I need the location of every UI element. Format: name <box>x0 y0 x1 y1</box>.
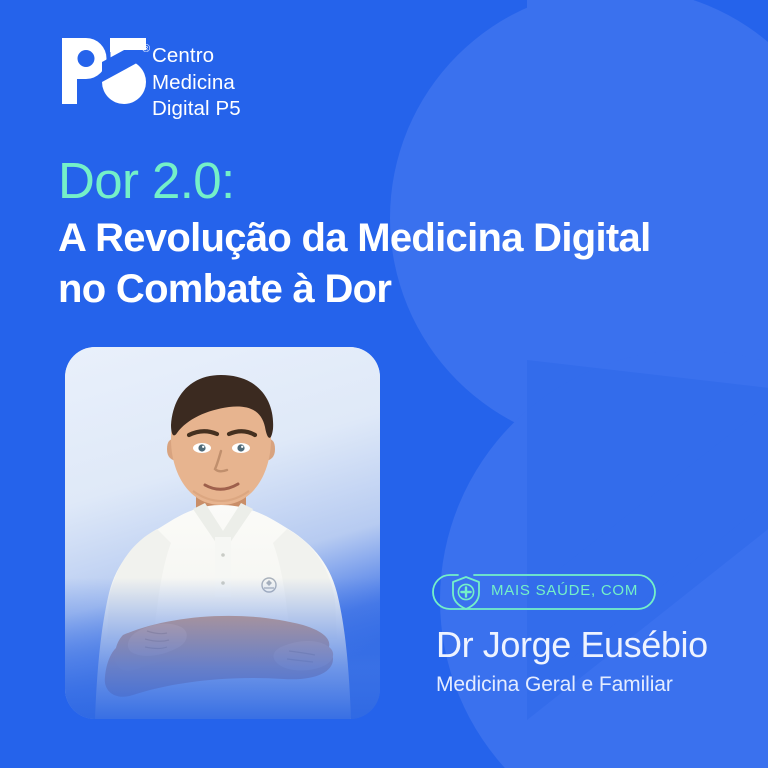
speaker-role: Medicina Geral e Familiar <box>436 673 730 696</box>
brand-logo[interactable]: ® Centro Medicina Digital P5 <box>62 38 241 123</box>
registered-trademark-icon: ® <box>142 44 150 55</box>
headline-group: Dor 2.0: A Revolução da Medicina Digital… <box>58 152 718 315</box>
portrait-illustration <box>65 347 380 719</box>
social-card: ® Centro Medicina Digital P5 Dor 2.0: A … <box>0 0 768 768</box>
headline-accent-line: Dor 2.0: <box>58 152 718 209</box>
shield-cross-icon <box>453 577 479 609</box>
status-badge: MAIS SAÚDE, COM <box>430 572 658 612</box>
speaker-name: Dr Jorge Eusébio <box>436 625 730 665</box>
p5-logo-mark: ® <box>62 38 140 104</box>
watermark-5-bowl <box>440 350 768 768</box>
speaker-block: MAIS SAÚDE, COM Dr Jorge Eusébio Medicin… <box>430 572 730 696</box>
brand-wordmark: Centro Medicina Digital P5 <box>152 38 241 123</box>
badge-label: MAIS SAÚDE, COM <box>491 583 638 598</box>
speaker-portrait <box>65 347 380 719</box>
headline-main-lines: A Revolução da Medicina Digital no Comba… <box>58 213 718 315</box>
logo-5-bar2 <box>110 38 146 50</box>
